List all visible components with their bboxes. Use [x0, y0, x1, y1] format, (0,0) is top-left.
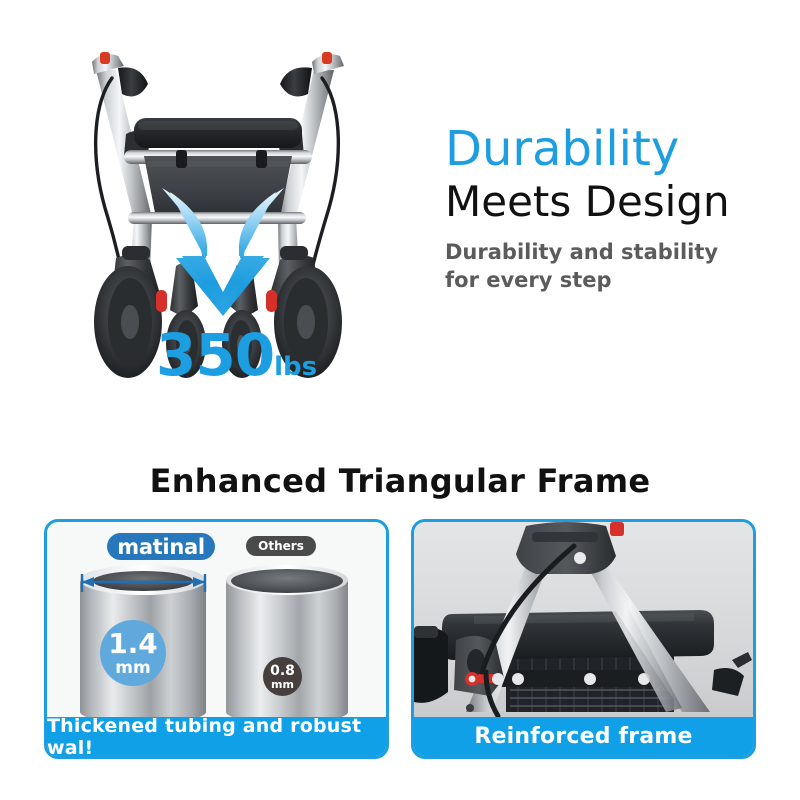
- panel-reinforced-frame: Reinforced frame: [411, 519, 756, 759]
- capacity-value: 350: [156, 321, 274, 389]
- infographic-canvas: 350lbs Durability Meets Design Durabilit…: [0, 0, 800, 800]
- headline-block: Durability Meets Design Durability and s…: [445, 124, 775, 295]
- weight-capacity: 350lbs: [156, 326, 317, 384]
- others-wall-thickness-badge: 0.8 mm: [263, 657, 302, 696]
- panel-tube-comparison: 41 mm matinal Others Thickened tubing an…: [44, 519, 389, 759]
- brand-thickness-value: 1.4: [108, 630, 158, 658]
- subcopy: Durability and stability for every step: [445, 239, 775, 294]
- walker-frame-closeup-image: [414, 522, 753, 723]
- brand-badge-others: Others: [246, 536, 316, 556]
- brand-badge-matinal: matinal: [107, 533, 215, 560]
- capacity-unit: lbs: [274, 352, 317, 382]
- brand-wall-thickness-badge: 1.4 mm: [100, 620, 166, 686]
- subcopy-line-2: for every step: [445, 267, 775, 295]
- tube-comparison-artwork: [47, 522, 386, 723]
- headline-secondary: Meets Design: [445, 179, 775, 225]
- others-thickness-unit: mm: [271, 679, 294, 690]
- frame-panel-caption: Reinforced frame: [414, 717, 753, 756]
- brand-thickness-unit: mm: [115, 660, 150, 677]
- headline-primary: Durability: [445, 124, 775, 175]
- down-arrow-icon: [160, 186, 286, 320]
- others-thickness-value: 0.8: [270, 664, 295, 678]
- tube-panel-caption: Thickened tubing and robust wal!: [47, 717, 386, 756]
- section-heading: Enhanced Triangular Frame: [0, 462, 800, 500]
- subcopy-line-1: Durability and stability: [445, 239, 775, 267]
- top-section: 350lbs Durability Meets Design Durabilit…: [0, 0, 800, 455]
